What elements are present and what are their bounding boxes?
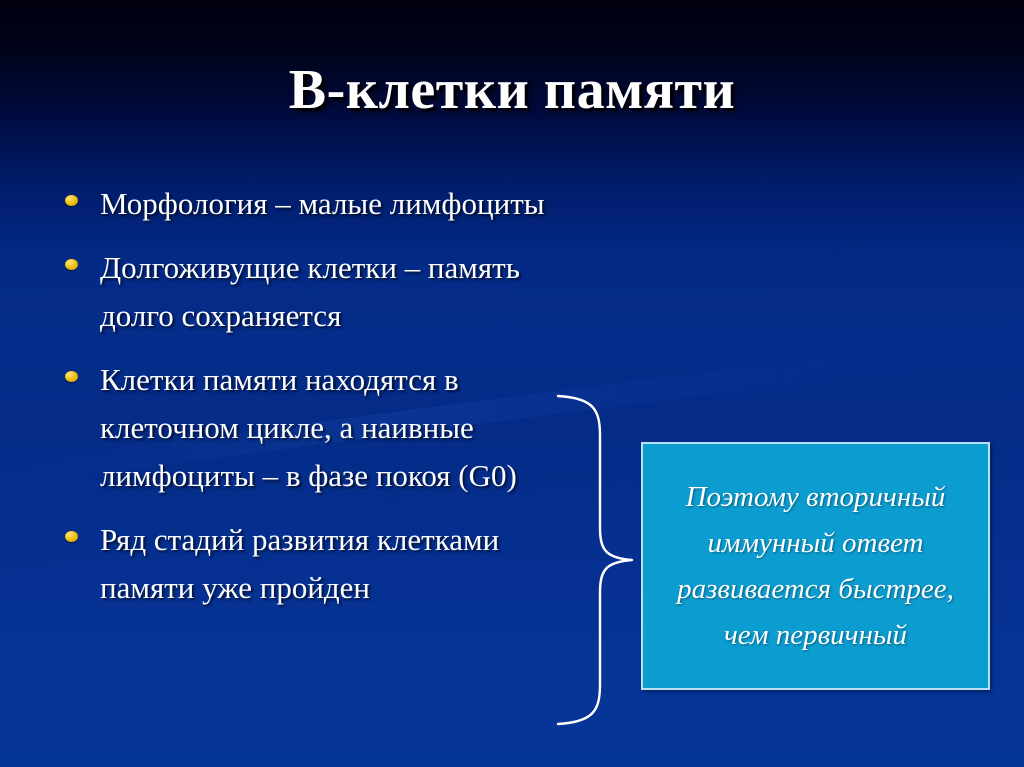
brace-container [548, 392, 644, 728]
right-curly-brace-icon [548, 392, 644, 728]
list-item: Ряд стадий развития клетками памяти уже … [52, 516, 582, 612]
list-item-label: Ряд стадий развития клетками памяти уже … [100, 522, 499, 605]
list-item-label: Клетки памяти находятся в клеточном цикл… [100, 362, 517, 493]
dot-bullet-icon [65, 259, 78, 270]
list-item-label: Долгоживущие клетки – память долго сохра… [100, 250, 520, 333]
slide-title: В-клетки памяти [0, 58, 1024, 122]
list-item-label: Морфология – малые лимфоциты [100, 186, 545, 221]
list-item: Клетки памяти находятся в клеточном цикл… [52, 356, 582, 500]
list-item: Морфология – малые лимфоциты [52, 180, 582, 228]
presentation-slide: В-клетки памяти Морфология – малые лимфо… [0, 0, 1024, 767]
dot-bullet-icon [65, 195, 78, 206]
dot-bullet-icon [65, 531, 78, 542]
list-item: Долгоживущие клетки – память долго сохра… [52, 244, 582, 340]
dot-bullet-icon [65, 371, 78, 382]
bullet-list: Морфология – малые лимфоциты Долгоживущи… [52, 180, 582, 628]
callout-text: Поэтому вторичный иммунный ответ развива… [643, 474, 988, 658]
callout-box: Поэтому вторичный иммунный ответ развива… [641, 442, 990, 690]
